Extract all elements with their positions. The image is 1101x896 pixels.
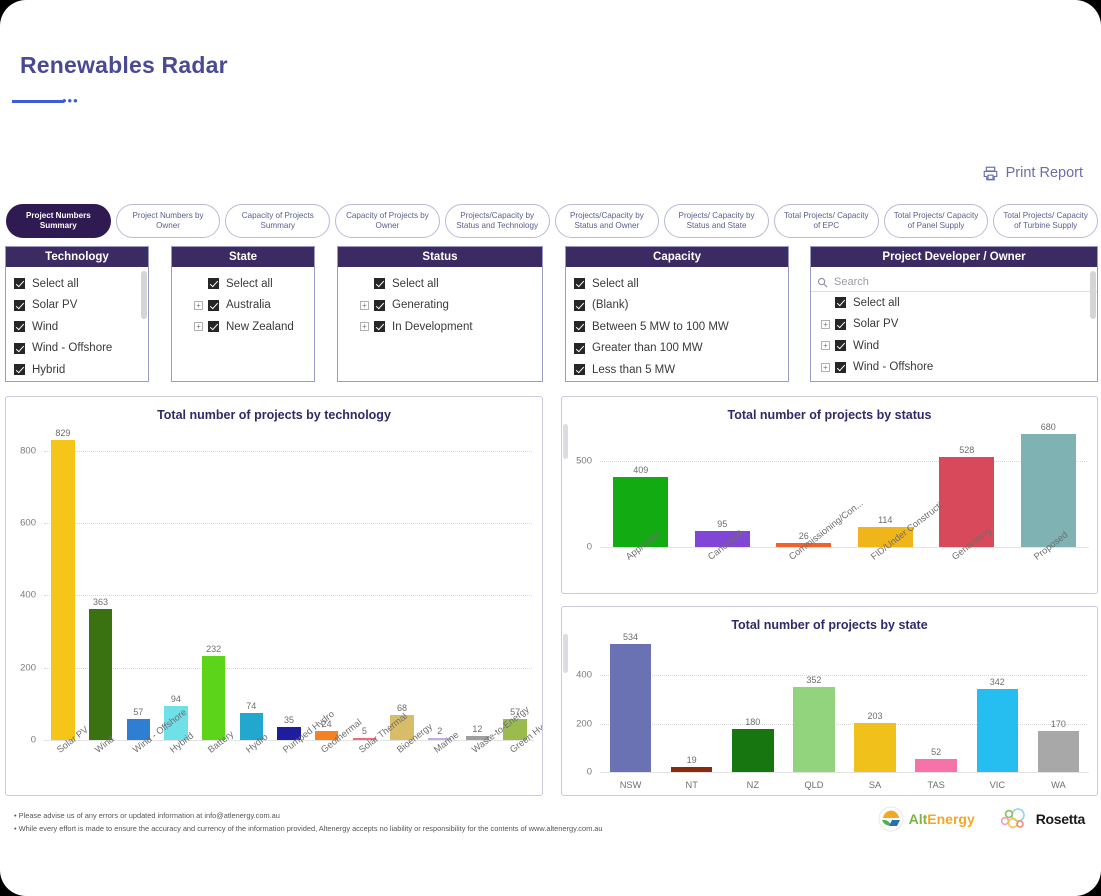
title-more-dots[interactable]: ••• bbox=[62, 96, 79, 106]
printer-icon bbox=[982, 166, 999, 181]
slicer-item-technology-2[interactable]: Wind bbox=[6, 316, 148, 338]
y-axis-tick: 800 bbox=[6, 445, 36, 456]
bar-group[interactable]: 203 bbox=[845, 632, 906, 772]
checkbox[interactable] bbox=[208, 278, 219, 289]
expand-icon[interactable]: + bbox=[194, 322, 203, 331]
bar-value-label: 534 bbox=[623, 632, 638, 642]
slicer-status: Status+Select all+Generating+In Developm… bbox=[337, 246, 543, 382]
slicer-item-status-2[interactable]: +In Development bbox=[338, 316, 542, 338]
plot-area-projects-by-state: 02004005341918035220352342170NSWNTNZQLDS… bbox=[562, 632, 1097, 796]
slicer-item-project-developer-owner-1[interactable]: +Solar PV bbox=[811, 314, 1097, 336]
bar[interactable] bbox=[977, 689, 1019, 772]
slicer-item-technology-3[interactable]: Wind - Offshore bbox=[6, 338, 148, 360]
chart-card-projects-by-technology: Total number of projects by technology02… bbox=[5, 396, 543, 796]
tab-6[interactable]: Projects/ Capacity by Status and State bbox=[664, 204, 769, 238]
slicer-item-capacity-3[interactable]: Greater than 100 MW bbox=[566, 338, 788, 360]
rosetta-logo-text: Rosetta bbox=[1036, 811, 1085, 827]
bar[interactable] bbox=[202, 656, 225, 740]
tab-0[interactable]: Project Numbers Summary bbox=[6, 204, 111, 238]
tab-7[interactable]: Total Projects/ Capacity of EPC bbox=[774, 204, 879, 238]
bar-group[interactable]: 35 bbox=[270, 422, 308, 740]
footer-line-1: • Please advise us of any errors or upda… bbox=[14, 810, 603, 823]
tab-5[interactable]: Projects/Capacity by Status and Owner bbox=[555, 204, 660, 238]
slicer-item-label: Select all bbox=[226, 278, 273, 290]
expand-icon[interactable]: + bbox=[821, 320, 830, 329]
slicer-item-label: Select all bbox=[392, 278, 439, 290]
bar-value-label: 5 bbox=[362, 726, 367, 736]
checkbox[interactable] bbox=[835, 319, 846, 330]
slicer-title-capacity: Capacity bbox=[566, 247, 788, 267]
bar-group[interactable]: 363 bbox=[82, 422, 120, 740]
slicer-item-label: Wind - Offshore bbox=[853, 361, 933, 373]
checkbox[interactable] bbox=[835, 340, 846, 351]
slicer-capacity: CapacitySelect all(Blank)Between 5 MW to… bbox=[565, 246, 789, 382]
slicer-item-label: Wind bbox=[853, 340, 879, 352]
bar-series-projects-by-technology: 829363579423274352456821257 bbox=[44, 422, 534, 740]
checkbox[interactable] bbox=[374, 300, 385, 311]
bar-value-label: 363 bbox=[93, 597, 108, 607]
slicer-item-label: Select all bbox=[32, 278, 79, 290]
y-axis-tick: 200 bbox=[562, 718, 592, 729]
slicer-item-status-0[interactable]: +Select all bbox=[338, 273, 542, 295]
slicer-body-capacity: Select all(Blank)Between 5 MW to 100 MWG… bbox=[566, 267, 788, 381]
x-axis-tick-label: TAS bbox=[927, 780, 944, 790]
search-placeholder: Search bbox=[834, 276, 869, 288]
bar-value-label: 528 bbox=[959, 445, 974, 455]
bar-group[interactable]: 52 bbox=[906, 632, 967, 772]
checkbox[interactable] bbox=[835, 362, 846, 373]
slicer-item-label: Generating bbox=[392, 299, 449, 311]
altenergy-logo-text: AltEnergy bbox=[909, 811, 975, 827]
bar-group[interactable]: 342 bbox=[967, 632, 1028, 772]
checkbox[interactable] bbox=[574, 278, 585, 289]
slicer-scrollbar[interactable] bbox=[1090, 271, 1096, 319]
chart-card-projects-by-state: Total number of projects by state0200400… bbox=[561, 606, 1098, 796]
bar-group[interactable]: 409 bbox=[600, 422, 682, 547]
x-axis-tick-label: WA bbox=[1051, 780, 1066, 790]
slicer-scrollbar[interactable] bbox=[141, 271, 147, 319]
bar-value-label: 114 bbox=[878, 515, 892, 525]
bar-group[interactable]: 57 bbox=[496, 422, 534, 740]
bar-group[interactable]: 2 bbox=[421, 422, 459, 740]
checkbox[interactable] bbox=[14, 278, 25, 289]
x-axis-labels: ApprovedCancelledCommissioning/Con...FID… bbox=[600, 552, 1089, 594]
tab-2[interactable]: Capacity of Projects Summary bbox=[225, 204, 330, 238]
bar-group[interactable]: 352 bbox=[783, 632, 844, 772]
bar-value-label: 203 bbox=[868, 711, 883, 721]
footer-line-2: • While every effort is made to ensure t… bbox=[14, 823, 603, 836]
print-report-button[interactable]: Print Report bbox=[982, 165, 1083, 181]
chart-title-projects-by-technology: Total number of projects by technology bbox=[6, 397, 542, 422]
checkbox[interactable] bbox=[374, 321, 385, 332]
slicer-item-label: In Development bbox=[392, 321, 473, 333]
checkbox[interactable] bbox=[14, 343, 25, 354]
x-axis-line bbox=[600, 772, 1089, 773]
slicer-title-project-developer-owner: Project Developer / Owner bbox=[811, 247, 1097, 267]
x-axis-line bbox=[600, 547, 1089, 548]
slicer-item-state-1[interactable]: +Australia bbox=[172, 295, 314, 317]
slicer-body-status: +Select all+Generating+In Development bbox=[338, 267, 542, 381]
slicer-item-capacity-2[interactable]: Between 5 MW to 100 MW bbox=[566, 316, 788, 338]
slicer-item-project-developer-owner-0[interactable]: +Select all bbox=[811, 292, 1097, 314]
altenergy-logo: AltEnergy bbox=[878, 806, 975, 832]
slicer-item-project-developer-owner-2[interactable]: +Wind bbox=[811, 335, 1097, 357]
slicer-body-technology: Select allSolar PVWindWind - OffshoreHyb… bbox=[6, 267, 148, 381]
bar-value-label: 170 bbox=[1051, 719, 1066, 729]
bar-group[interactable]: 829 bbox=[44, 422, 82, 740]
x-axis-tick-label: NZ bbox=[747, 780, 759, 790]
bar-group[interactable]: 57 bbox=[119, 422, 157, 740]
tab-8[interactable]: Total Projects/ Capacity of Panel Supply bbox=[884, 204, 989, 238]
chart-title-projects-by-status: Total number of projects by status bbox=[562, 397, 1097, 422]
y-axis-tick: 600 bbox=[6, 518, 36, 529]
slicer-item-label: Solar PV bbox=[32, 299, 77, 311]
bar-value-label: 342 bbox=[990, 677, 1005, 687]
bar-series-projects-by-status: 4099526114528680 bbox=[600, 422, 1089, 547]
report-window: Renewables Radar ••• Print Report Projec… bbox=[0, 0, 1101, 896]
bar-value-label: 74 bbox=[246, 701, 256, 711]
slicer-item-status-1[interactable]: +Generating bbox=[338, 295, 542, 317]
bar-value-label: 35 bbox=[284, 715, 294, 725]
plot-area-projects-by-status: 05004099526114528680ApprovedCancelledCom… bbox=[562, 422, 1097, 594]
checkbox[interactable] bbox=[208, 321, 219, 332]
bar[interactable] bbox=[915, 759, 957, 772]
bar[interactable] bbox=[732, 729, 774, 772]
expand-icon[interactable]: + bbox=[360, 322, 369, 331]
slicer-item-label: Solar PV bbox=[853, 318, 898, 330]
slicer-item-label: New Zealand bbox=[226, 321, 294, 333]
bar-value-label: 232 bbox=[206, 644, 221, 654]
rosetta-logo: Rosetta bbox=[997, 806, 1085, 832]
bar-value-label: 52 bbox=[931, 747, 941, 757]
x-axis-labels: NSWNTNZQLDSATASVICWA bbox=[600, 777, 1089, 796]
slicer-body-project-developer-owner: Search+Select all+Solar PV+Wind+Wind - O… bbox=[811, 267, 1097, 381]
slicer-title-status: Status bbox=[338, 247, 542, 267]
bar-value-label: 352 bbox=[806, 675, 821, 685]
expand-icon[interactable]: + bbox=[360, 301, 369, 310]
slicer-item-state-2[interactable]: +New Zealand bbox=[172, 316, 314, 338]
bar-value-label: 829 bbox=[55, 428, 70, 438]
tab-9[interactable]: Total Projects/ Capacity of Turbine Supp… bbox=[993, 204, 1098, 238]
rosetta-mark-icon bbox=[997, 806, 1031, 832]
bar-value-label: 95 bbox=[717, 519, 727, 529]
bar-value-label: 409 bbox=[633, 465, 648, 475]
print-report-label: Print Report bbox=[1006, 165, 1083, 181]
bar-group[interactable]: 534 bbox=[600, 632, 661, 772]
bar-group[interactable]: 232 bbox=[195, 422, 233, 740]
slicer-item-capacity-4[interactable]: Less than 5 MW bbox=[566, 359, 788, 381]
slicer-title-state: State bbox=[172, 247, 314, 267]
bar[interactable] bbox=[1021, 434, 1076, 547]
slicer-item-label: Between 5 MW to 100 MW bbox=[592, 321, 729, 333]
tab-3[interactable]: Capacity of Projects by Owner bbox=[335, 204, 440, 238]
page-title: Renewables Radar bbox=[20, 52, 228, 79]
chart-title-projects-by-state: Total number of projects by state bbox=[562, 607, 1097, 632]
bar-group[interactable]: 12 bbox=[459, 422, 497, 740]
bar-series-projects-by-state: 5341918035220352342170 bbox=[600, 632, 1089, 772]
slicer-item-label: Select all bbox=[592, 278, 639, 290]
bar-value-label: 12 bbox=[472, 724, 482, 734]
x-axis-tick-label: VIC bbox=[990, 780, 1006, 790]
bar[interactable] bbox=[854, 723, 896, 772]
bar-group[interactable]: 95 bbox=[682, 422, 764, 547]
search-input-project-developer-owner[interactable]: Search bbox=[811, 273, 1097, 292]
slicer-item-capacity-1[interactable]: (Blank) bbox=[566, 295, 788, 317]
bar-value-label: 2 bbox=[437, 726, 442, 736]
slicer-item-label: Less than 5 MW bbox=[592, 364, 675, 376]
slicer-title-technology: Technology bbox=[6, 247, 148, 267]
footer-disclaimer: • Please advise us of any errors or upda… bbox=[14, 810, 603, 835]
bar-group[interactable]: 19 bbox=[661, 632, 722, 772]
slicer-technology: TechnologySelect allSolar PVWindWind - O… bbox=[5, 246, 149, 382]
tab-4[interactable]: Projects/Capacity by Status and Technolo… bbox=[445, 204, 550, 238]
x-axis-labels: Solar PVWindWind - OffshoreHybridBattery… bbox=[44, 745, 534, 796]
bar-value-label: 94 bbox=[171, 694, 181, 704]
altenergy-mark-icon bbox=[878, 806, 904, 832]
slicer-body-state: +Select all+Australia+New Zealand bbox=[172, 267, 314, 381]
search-icon bbox=[817, 277, 828, 288]
y-axis-tick: 0 bbox=[562, 542, 592, 553]
report-tab-strip[interactable]: Project Numbers SummaryProject Numbers b… bbox=[6, 204, 1098, 238]
bar-group[interactable]: 5 bbox=[346, 422, 384, 740]
bar-group[interactable]: 170 bbox=[1028, 632, 1089, 772]
footer-logos: AltEnergy Rosetta bbox=[878, 806, 1085, 832]
bar-group[interactable]: 680 bbox=[1008, 422, 1090, 547]
slicer-item-project-developer-owner-3[interactable]: +Wind - Offshore bbox=[811, 357, 1097, 379]
checkbox[interactable] bbox=[574, 364, 585, 375]
bar-value-label: 680 bbox=[1041, 422, 1056, 432]
bar-group[interactable]: 68 bbox=[383, 422, 421, 740]
bar[interactable] bbox=[793, 687, 835, 772]
slicer-state: State+Select all+Australia+New Zealand bbox=[171, 246, 315, 382]
slicer-item-label: Wind - Offshore bbox=[32, 342, 112, 354]
x-axis-tick-label: NSW bbox=[620, 780, 642, 790]
slicer-project-developer-owner: Project Developer / OwnerSearch+Select a… bbox=[810, 246, 1098, 382]
checkbox[interactable] bbox=[574, 343, 585, 354]
slicer-item-state-0[interactable]: +Select all bbox=[172, 273, 314, 295]
bar-group[interactable]: 74 bbox=[232, 422, 270, 740]
slicer-item-technology-0[interactable]: Select all bbox=[6, 273, 148, 295]
slicer-item-technology-1[interactable]: Solar PV bbox=[6, 295, 148, 317]
y-axis-tick: 200 bbox=[6, 662, 36, 673]
slicer-item-label: Select all bbox=[853, 297, 900, 309]
x-axis-tick-label: SA bbox=[869, 780, 881, 790]
checkbox[interactable] bbox=[208, 300, 219, 311]
tab-1[interactable]: Project Numbers by Owner bbox=[116, 204, 221, 238]
expand-icon[interactable]: + bbox=[821, 341, 830, 350]
chart-scrollbar[interactable] bbox=[563, 634, 568, 673]
slicer-item-label: Wind bbox=[32, 321, 58, 333]
checkbox[interactable] bbox=[374, 278, 385, 289]
slicer-item-capacity-0[interactable]: Select all bbox=[566, 273, 788, 295]
bar-value-label: 57 bbox=[133, 707, 143, 717]
x-axis-tick-label: NT bbox=[685, 780, 697, 790]
slicer-item-label: Hybrid bbox=[32, 364, 65, 376]
title-underline bbox=[12, 100, 64, 103]
bar-value-label: 19 bbox=[687, 755, 697, 765]
bar-value-label: 180 bbox=[745, 717, 760, 727]
chart-card-projects-by-status: Total number of projects by status050040… bbox=[561, 396, 1098, 594]
bar[interactable] bbox=[51, 440, 74, 740]
y-axis-tick: 400 bbox=[6, 590, 36, 601]
slicer-item-label: (Blank) bbox=[592, 299, 628, 311]
plot-area-projects-by-technology: 0200400600800829363579423274352456821257… bbox=[6, 422, 542, 796]
bar[interactable] bbox=[610, 644, 652, 772]
chart-scrollbar[interactable] bbox=[563, 424, 568, 459]
expand-icon[interactable]: + bbox=[194, 301, 203, 310]
y-axis-tick: 0 bbox=[6, 735, 36, 746]
slicer-item-technology-4[interactable]: Hybrid bbox=[6, 359, 148, 381]
expand-icon[interactable]: + bbox=[821, 363, 830, 372]
bar[interactable] bbox=[1038, 731, 1080, 772]
bar-group[interactable]: 94 bbox=[157, 422, 195, 740]
bar-group[interactable]: 24 bbox=[308, 422, 346, 740]
checkbox[interactable] bbox=[574, 321, 585, 332]
bar[interactable] bbox=[89, 609, 112, 740]
y-axis-tick: 0 bbox=[562, 767, 592, 778]
checkbox[interactable] bbox=[14, 321, 25, 332]
checkbox[interactable] bbox=[574, 300, 585, 311]
bar-group[interactable]: 180 bbox=[722, 632, 783, 772]
checkbox[interactable] bbox=[835, 297, 846, 308]
bar-group[interactable]: 528 bbox=[926, 422, 1008, 547]
checkbox[interactable] bbox=[14, 364, 25, 375]
slicer-item-label: Greater than 100 MW bbox=[592, 342, 703, 354]
slicer-item-label: Australia bbox=[226, 299, 271, 311]
checkbox[interactable] bbox=[14, 300, 25, 311]
x-axis-tick-label: QLD bbox=[804, 780, 823, 790]
